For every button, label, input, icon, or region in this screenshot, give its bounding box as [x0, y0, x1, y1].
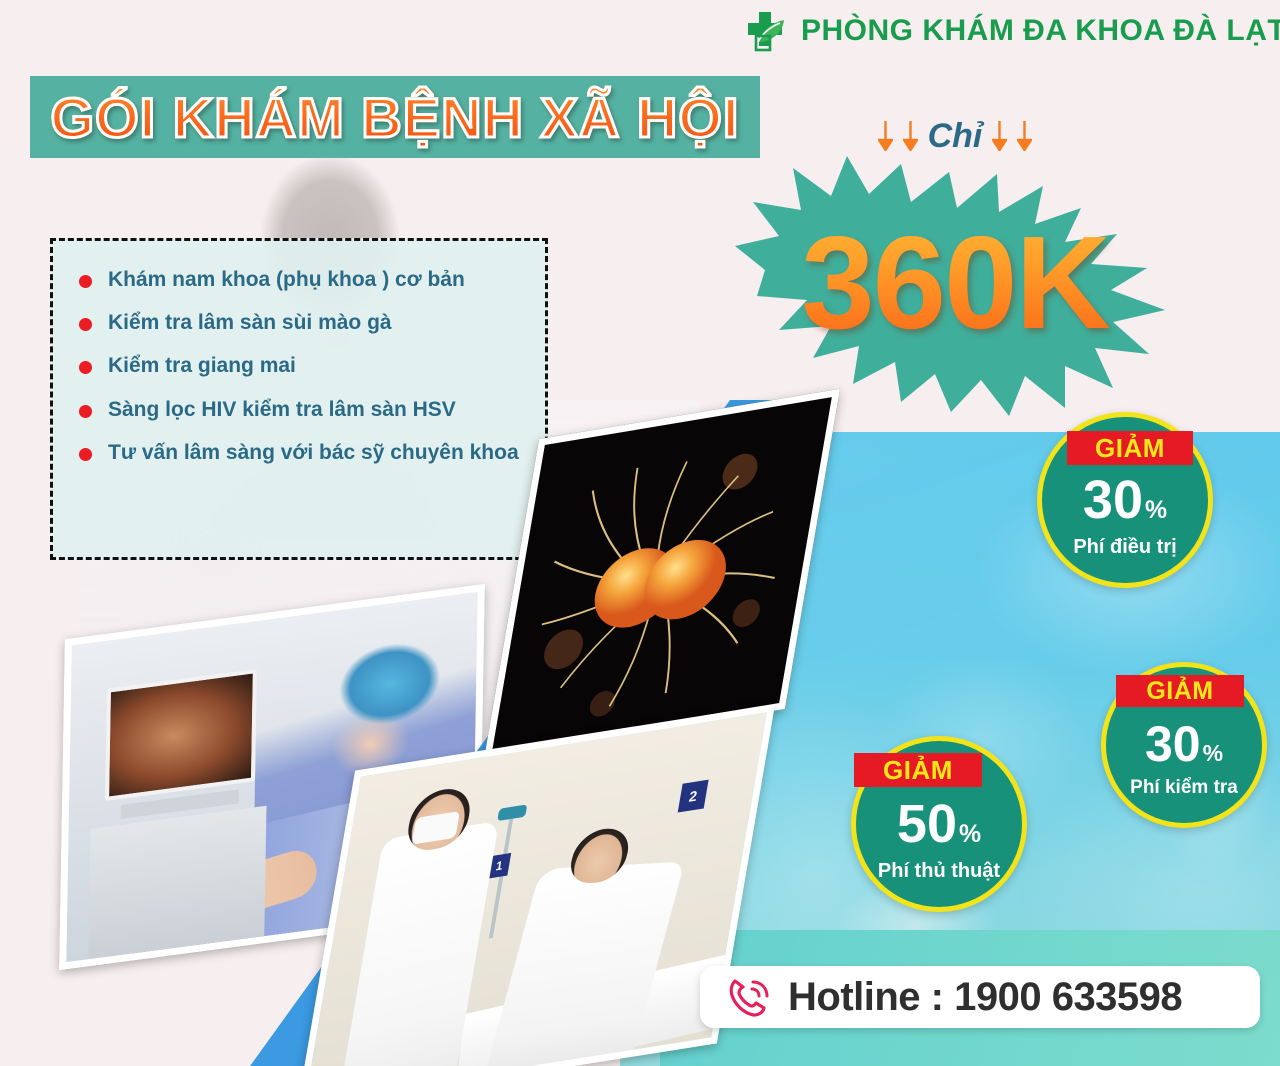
bullet-dot-icon — [79, 405, 92, 418]
badge-ribbon-label: GIẢM — [854, 753, 982, 787]
price-amount: 360K — [735, 150, 1175, 420]
poster-root: PHÒNG KHÁM ĐA KHOA ĐÀ LẠT GÓI KHÁM BỆNH … — [0, 0, 1280, 1066]
arrow-down-icon — [992, 121, 1007, 151]
bullet-dot-icon — [79, 275, 92, 288]
badge-caption: Phí thủ thuật — [878, 861, 1000, 881]
discount-badge-procedure: GIẢM 50% Phí thủ thuật — [851, 736, 1027, 912]
badge-percent: 30% — [1145, 719, 1223, 769]
medical-cross-leaf-icon — [744, 10, 788, 52]
bacteria-illustration — [492, 397, 832, 751]
percent-symbol: % — [959, 823, 981, 848]
clinic-name: PHÒNG KHÁM ĐA KHOA ĐÀ LẠT — [801, 14, 1280, 48]
discount-badge-treatment: GIẢM 30% Phí điều trị — [1037, 412, 1213, 588]
service-label: Sàng lọc HIV kiểm tra lâm sàn HSV — [108, 397, 456, 422]
percent-symbol: % — [1145, 499, 1167, 524]
bullet-dot-icon — [79, 361, 92, 374]
service-label: Tư vấn lâm sàng với bác sỹ chuyên khoa — [108, 440, 519, 465]
clinic-logo: PHÒNG KHÁM ĐA KHOA ĐÀ LẠT — [744, 10, 1280, 52]
service-list: Khám nam khoa (phụ khoa ) cơ bản Kiểm tr… — [50, 238, 548, 560]
badge-ribbon-label: GIẢM — [1116, 675, 1244, 707]
discount-badge-checkup: GIẢM 30% Phí kiểm tra — [1101, 662, 1267, 828]
badge-caption: Phí điều trị — [1073, 537, 1176, 557]
title-banner: GÓI KHÁM BỆNH XÃ HỘI — [30, 76, 760, 158]
arrow-down-icon — [878, 121, 893, 151]
bullet-dot-icon — [79, 318, 92, 331]
hotline-number: Hotline : 1900 633598 — [788, 975, 1182, 1020]
badge-percent-value: 30 — [1145, 719, 1201, 769]
photo-detail — [105, 669, 257, 801]
arrow-down-icon — [903, 121, 918, 151]
list-item: Kiểm tra lâm sàn sùi mào gà — [79, 310, 523, 335]
list-item: Kiểm tra giang mai — [79, 353, 523, 378]
badge-percent-value: 30 — [1083, 473, 1143, 527]
service-label: Kiểm tra giang mai — [108, 353, 296, 378]
list-item: Sàng lọc HIV kiểm tra lâm sàn HSV — [79, 397, 523, 422]
badge-caption: Phí kiểm tra — [1130, 778, 1238, 797]
badge-percent: 30% — [1083, 473, 1167, 527]
hotline-bar[interactable]: Hotline : 1900 633598 — [700, 966, 1260, 1028]
page-title: GÓI KHÁM BỆNH XÃ HỘI — [51, 85, 740, 150]
percent-symbol: % — [1203, 742, 1223, 765]
list-item: Khám nam khoa (phụ khoa ) cơ bản — [79, 267, 523, 292]
arrow-down-icon — [1017, 121, 1032, 151]
badge-percent: 50% — [897, 797, 981, 851]
photo-detail — [88, 806, 266, 970]
service-label: Khám nam khoa (phụ khoa ) cơ bản — [108, 267, 465, 292]
service-label: Kiểm tra lâm sàn sùi mào gà — [108, 310, 392, 335]
bullet-dot-icon — [79, 448, 92, 461]
badge-percent-value: 50 — [897, 797, 957, 851]
badge-ribbon-label: GIẢM — [1067, 431, 1193, 465]
list-item: Tư vấn lâm sàng với bác sỹ chuyên khoa — [79, 440, 523, 465]
price-burst: 360K — [735, 150, 1175, 420]
phone-ringing-icon — [726, 975, 772, 1019]
